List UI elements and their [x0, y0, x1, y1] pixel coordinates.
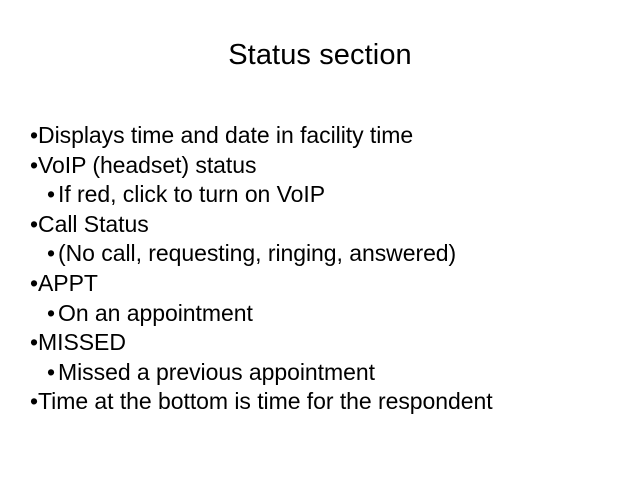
list-item: •On an appointment [0, 299, 640, 329]
list-item-label: Missed a previous appointment [58, 359, 375, 385]
bullet-icon: • [30, 121, 38, 151]
list-item: •MISSED [0, 328, 640, 358]
bullet-icon: • [30, 387, 38, 417]
bullet-icon: • [47, 180, 55, 210]
list-item-label: Time at the bottom is time for the respo… [38, 388, 493, 414]
bullet-icon: • [47, 299, 55, 329]
list-item: •VoIP (headset) status [0, 151, 640, 181]
list-item: •Missed a previous appointment [0, 358, 640, 388]
page-title: Status section [0, 38, 640, 72]
list-item: •If red, click to turn on VoIP [0, 180, 640, 210]
bullet-list: •Displays time and date in facility time… [0, 121, 640, 417]
list-item-label: (No call, requesting, ringing, answered) [58, 240, 456, 266]
slide-canvas: Status section •Displays time and date i… [0, 0, 640, 480]
list-item-label: If red, click to turn on VoIP [58, 181, 325, 207]
list-item-label: On an appointment [58, 300, 253, 326]
list-item-label: Displays time and date in facility time [38, 122, 413, 148]
list-item: •Call Status [0, 210, 640, 240]
bullet-icon: • [30, 328, 38, 358]
list-item-label: Call Status [38, 211, 149, 237]
bullet-icon: • [30, 210, 38, 240]
list-item: •APPT [0, 269, 640, 299]
list-item-label: VoIP (headset) status [38, 152, 256, 178]
bullet-icon: • [30, 151, 38, 181]
list-item: •Time at the bottom is time for the resp… [0, 387, 640, 417]
bullet-icon: • [47, 239, 55, 269]
bullet-icon: • [30, 269, 38, 299]
list-item-label: APPT [38, 270, 98, 296]
bullet-icon: • [47, 358, 55, 388]
list-item: •(No call, requesting, ringing, answered… [0, 239, 640, 269]
list-item-label: MISSED [38, 329, 126, 355]
list-item: •Displays time and date in facility time [0, 121, 640, 151]
